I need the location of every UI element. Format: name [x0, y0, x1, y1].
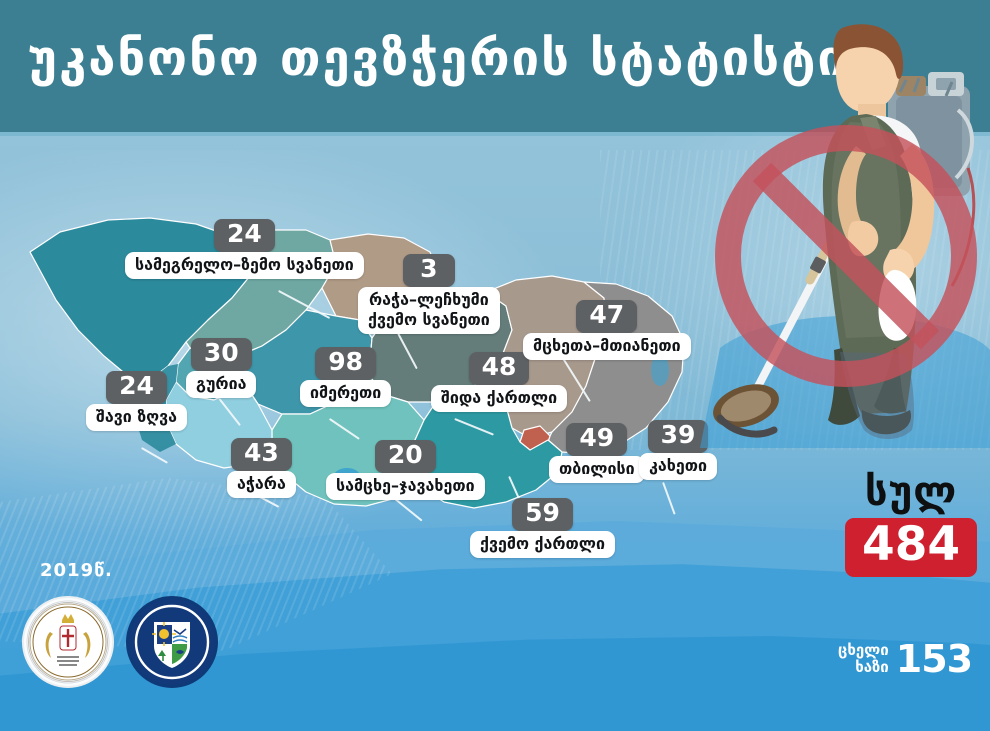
- map-label-samegrelo-zemo-svaneti[interactable]: 24 სამეგრელო–ზემო სვანეთი: [125, 219, 364, 279]
- map-label-black-sea[interactable]: 24 შავი ზღვა: [86, 371, 187, 431]
- hotline-label-line1: ცხელი: [838, 643, 889, 658]
- map-label-imereti[interactable]: 98 იმერეთი: [300, 347, 391, 407]
- infographic-root: 24 შავი ზღვა 24 სამეგრელო–ზემო სვანეთი 3…: [0, 0, 990, 731]
- map-label-racha-lechkhumi[interactable]: 3 რაჭა–ლეჩხუმი ქვემო სვანეთი: [358, 254, 500, 334]
- map-value-shida-kartli: 48: [469, 352, 530, 385]
- hotline-block[interactable]: ცხელი ხაზი 153: [838, 642, 972, 677]
- map-name-racha-lechkhumi: რაჭა–ლეჩხუმი ქვემო სვანეთი: [358, 287, 500, 334]
- map-value-kvemo-kartli: 59: [512, 498, 573, 531]
- map-label-samtskhe-javakheti[interactable]: 20 სამცხე–ჯავახეთი: [326, 440, 485, 500]
- map-label-shida-kartli[interactable]: 48 შიდა ქართლი: [431, 352, 567, 412]
- map-label-guria[interactable]: 30 გურია: [186, 338, 256, 398]
- hotline-number: 153: [896, 642, 972, 677]
- map-name-tbilisi: თბილისი: [549, 456, 645, 483]
- map-name-mtskheta-mtianeti: მცხეთა–მთიანეთი: [523, 333, 691, 360]
- map-value-tbilisi: 49: [566, 423, 627, 456]
- map-name-kvemo-kartli: ქვემო ქართლი: [470, 531, 615, 558]
- map-value-imereti: 98: [315, 347, 376, 380]
- total-block: სულ 484: [845, 472, 977, 577]
- map-value-samegrelo-zemo-svaneti: 24: [214, 219, 275, 252]
- map-name-shida-kartli: შიდა ქართლი: [431, 385, 567, 412]
- map-label-adjara[interactable]: 43 აჭარა: [227, 438, 296, 498]
- map-label-mtskheta-mtianeti[interactable]: 47 მცხეთა–მთიანეთი: [523, 300, 691, 360]
- map-value-mtskheta-mtianeti: 47: [576, 300, 637, 333]
- map-value-guria: 30: [191, 338, 252, 371]
- emblem-row: [22, 596, 218, 688]
- map-value-samtskhe-javakheti: 20: [375, 440, 436, 473]
- hotline-label-line2: ხაზი: [838, 660, 889, 675]
- map-name-samegrelo-zemo-svaneti: სამეგრელო–ზემო სვანეთი: [125, 252, 364, 279]
- map-name-imereti: იმერეთი: [300, 380, 391, 407]
- hotline-label: ცხელი ხაზი: [838, 643, 889, 675]
- ministry-of-environment-seal-icon: [22, 596, 114, 688]
- map-name-adjara: აჭარა: [227, 471, 296, 498]
- map-name-kakheti: კახეთი: [639, 453, 717, 480]
- total-value: 484: [845, 518, 977, 577]
- map-name-black-sea: შავი ზღვა: [86, 404, 187, 431]
- map-name-guria: გურია: [186, 371, 256, 398]
- map-label-tbilisi[interactable]: 49 თბილისი: [549, 423, 645, 483]
- year-label: 2019წ.: [40, 560, 113, 581]
- map-value-racha-lechkhumi: 3: [403, 254, 455, 287]
- environmental-supervision-seal-icon: [126, 596, 218, 688]
- map-value-adjara: 43: [231, 438, 292, 471]
- total-label: სულ: [845, 472, 977, 512]
- electrofishing-illustration: [700, 18, 990, 448]
- map-label-kvemo-kartli[interactable]: 59 ქვემო ქართლი: [470, 498, 615, 558]
- map-value-black-sea: 24: [106, 371, 167, 404]
- map-name-samtskhe-javakheti: სამცხე–ჯავახეთი: [326, 473, 485, 500]
